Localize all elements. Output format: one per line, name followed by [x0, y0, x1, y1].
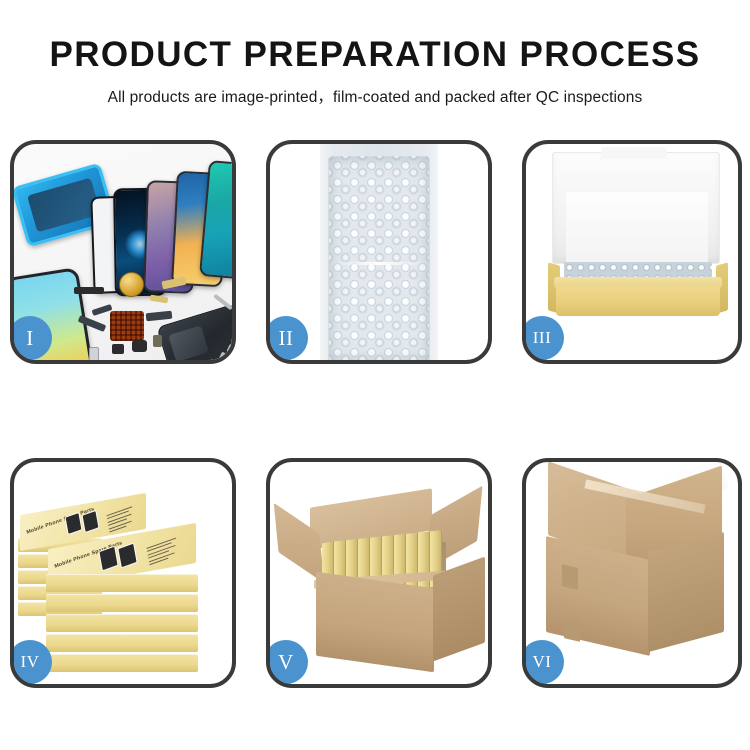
box-stack: Mobile Phone Spare Parts Mobile Phone Sp…	[18, 478, 232, 668]
step-badge-2: II	[266, 316, 308, 360]
stacked-box-f1	[46, 574, 198, 592]
step-panel-2[interactable]: II	[266, 140, 492, 364]
bubble-wrap-sleeve	[320, 144, 438, 360]
step-panel-4[interactable]: Mobile Phone Spare Parts Mobile Phone Sp…	[10, 458, 236, 688]
bubble-wrap-seam	[331, 262, 427, 265]
step-panel-5[interactable]: V	[266, 458, 492, 688]
step-badge-1: I	[10, 316, 52, 360]
sim-tray	[89, 347, 99, 360]
battery-connector	[153, 335, 162, 347]
step-badge-3: III	[522, 316, 564, 360]
bracket-part	[112, 344, 124, 354]
step-badge-5: V	[266, 640, 308, 684]
box-front-wall	[556, 286, 720, 316]
carton-handle-tab-bottom	[564, 618, 580, 642]
copper-mesh-part	[110, 311, 144, 341]
earpiece-part	[74, 287, 104, 294]
step-badge-4: IV	[10, 640, 52, 684]
stacked-box-f5	[46, 654, 198, 672]
carton-front-face	[316, 572, 434, 673]
carton-right-face	[433, 557, 485, 662]
box-inner-foam	[566, 192, 708, 270]
button-part	[132, 340, 147, 352]
speaker-part	[119, 272, 144, 297]
step-panel-6[interactable]: VI	[522, 458, 742, 688]
product-preparation-infographic: PRODUCT PREPARATION PROCESS All products…	[0, 0, 750, 750]
stacked-box-f2	[46, 594, 198, 612]
sealed-carton-right	[648, 532, 724, 652]
carton-handle-tab-top	[562, 564, 578, 590]
steps-grid: I II III	[0, 0, 750, 750]
stacked-box-f4	[46, 634, 198, 652]
step-panel-1[interactable]: I	[10, 140, 236, 364]
step-panel-3[interactable]: III	[522, 140, 742, 364]
step-badge-6: VI	[522, 640, 564, 684]
bubble-wrap-sheet-overlay	[329, 156, 429, 360]
stacked-box-f3	[46, 614, 198, 632]
